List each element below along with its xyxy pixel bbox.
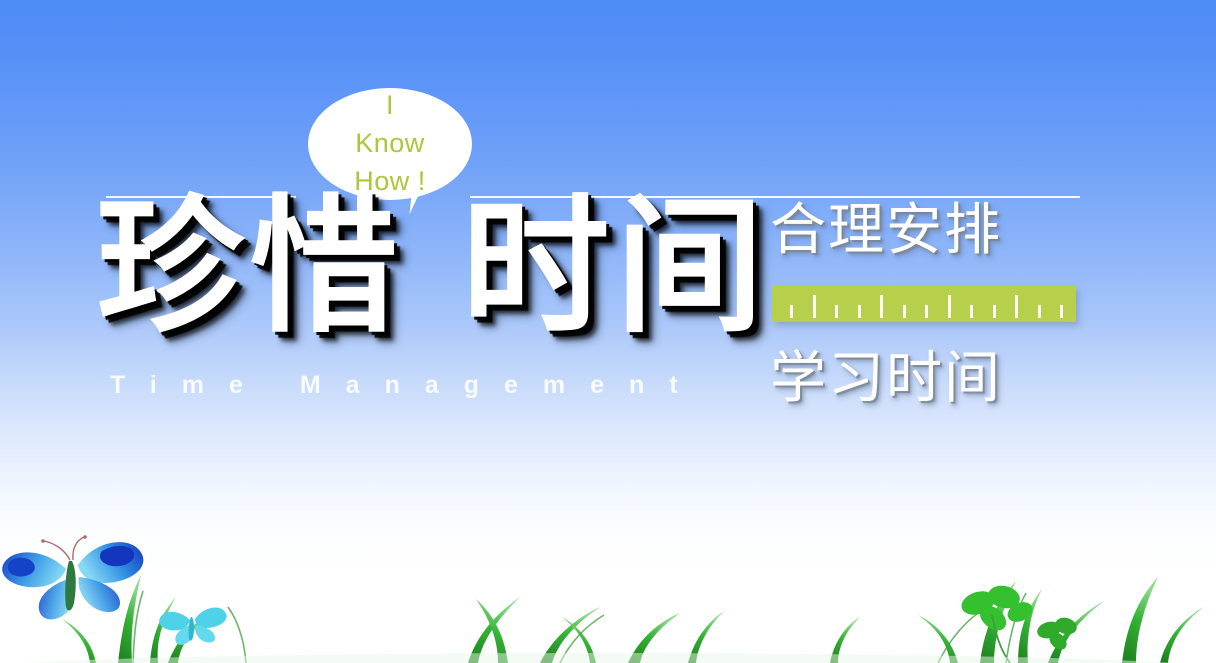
ruler-tick <box>948 295 951 318</box>
ruler-tick <box>1015 295 1018 318</box>
ruler-tick <box>970 305 973 318</box>
grass-stems <box>133 591 1026 663</box>
ruler-tick <box>993 305 996 318</box>
english-subtitle: Time Management <box>110 371 703 400</box>
speech-bubble-text: I Know How ! <box>308 88 472 200</box>
ruler-tick <box>813 295 816 318</box>
grass-blades <box>62 575 1204 663</box>
main-headline: 珍惜 时间 <box>96 188 770 346</box>
right-heading-top: 合理安排 <box>770 200 1002 262</box>
ruler-tick <box>1038 305 1041 318</box>
ruler-graphic <box>772 286 1076 322</box>
ruler-tick <box>835 305 838 318</box>
speech-bubble-line-2: Know <box>355 124 425 162</box>
speech-bubble-line-3: How ! <box>354 162 426 200</box>
ruler-tick <box>903 305 906 318</box>
foliage-illustration <box>0 523 1216 663</box>
ruler-tick <box>858 305 861 318</box>
ruler-tick <box>880 295 883 318</box>
speech-bubble: I Know How ! <box>308 88 472 200</box>
ruler-tick <box>925 305 928 318</box>
butterfly-icon <box>2 535 143 619</box>
small-butterfly-icon <box>159 608 226 645</box>
right-heading-bottom: 学习时间 <box>770 348 1002 410</box>
speech-bubble-line-1: I <box>386 86 394 124</box>
slide-canvas: I Know How ! 珍惜 时间 Time Management 合理安排 … <box>0 0 1216 663</box>
ruler-tick <box>790 305 793 318</box>
ruler-tick <box>1060 305 1063 318</box>
